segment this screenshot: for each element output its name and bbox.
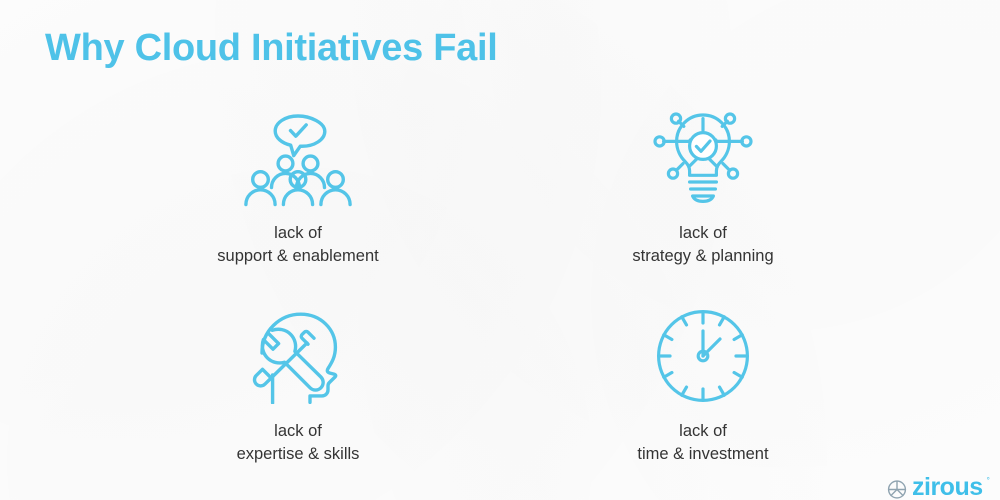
reason-caption-line2: expertise & skills xyxy=(133,443,463,466)
reason-card-time-investment: lack of time & investment xyxy=(538,306,868,466)
reason-card-strategy-planning: lack of strategy & planning xyxy=(538,108,868,268)
lightbulb-network-check-icon xyxy=(538,108,868,208)
slide-canvas: Why Cloud Initiatives Fail xyxy=(0,0,1000,500)
page-title: Why Cloud Initiatives Fail xyxy=(45,26,497,72)
reason-caption: lack of expertise & skills xyxy=(133,420,463,466)
zirous-logo-registered-mark: ° xyxy=(987,477,990,485)
reason-caption-line1: lack of xyxy=(133,222,463,245)
reason-caption-line1: lack of xyxy=(538,222,868,245)
zirous-logo: zirous ° xyxy=(886,477,1000,500)
reason-card-expertise-skills: lack of expertise & skills xyxy=(133,306,463,466)
reason-caption: lack of support & enablement xyxy=(133,222,463,268)
reason-card-support-enablement: lack of support & enablement xyxy=(133,108,463,268)
reason-caption-line2: support & enablement xyxy=(133,245,463,268)
clock-icon xyxy=(538,306,868,406)
reason-caption-line1: lack of xyxy=(538,420,868,443)
reason-caption-line2: time & investment xyxy=(538,443,868,466)
reason-caption-line2: strategy & planning xyxy=(538,245,868,268)
reason-caption: lack of strategy & planning xyxy=(538,222,868,268)
reason-caption: lack of time & investment xyxy=(538,420,868,466)
people-group-speech-bubble-check-icon xyxy=(133,108,463,208)
zirous-logo-text: zirous xyxy=(912,477,983,499)
head-profile-wrench-screwdriver-icon xyxy=(133,306,463,406)
zirous-logo-mark xyxy=(886,477,908,500)
reason-caption-line1: lack of xyxy=(133,420,463,443)
